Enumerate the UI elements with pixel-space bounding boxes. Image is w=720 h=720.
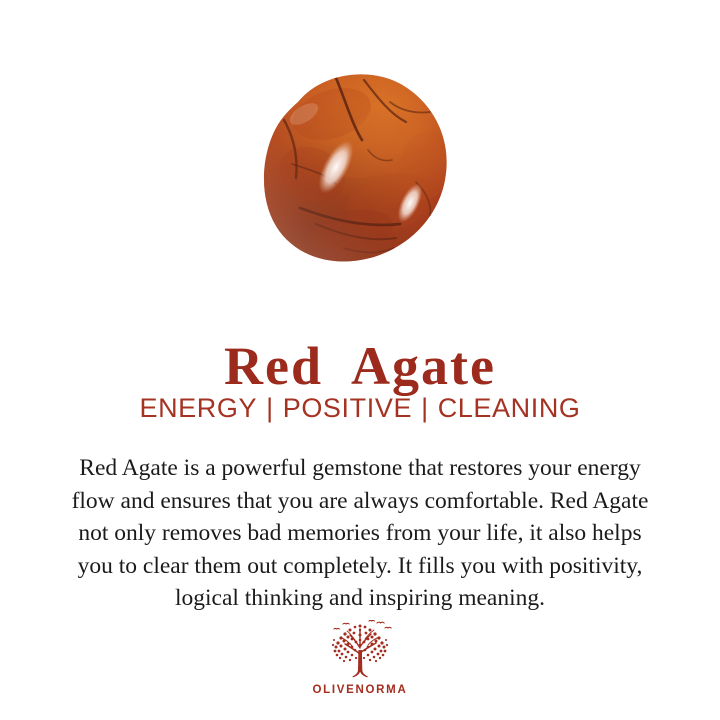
- keyword-separator: |: [412, 393, 438, 423]
- keyword-cleaning: CLEANING: [438, 393, 581, 423]
- keyword-positive: POSITIVE: [283, 393, 412, 423]
- description-text: Red Agate is a powerful gemstone that re…: [18, 452, 702, 615]
- description-line: you to clear them out completely. It fil…: [18, 550, 702, 583]
- description-line: logical thinking and inspiring meaning.: [18, 582, 702, 615]
- description-line: flow and ensures that you are always com…: [18, 485, 702, 518]
- bird-icon: [334, 620, 391, 629]
- description-line: not only removes bad memories from your …: [18, 517, 702, 550]
- keyword-energy: ENERGY: [139, 393, 257, 423]
- brand-wordmark: OLIVENORMA: [313, 685, 408, 697]
- keyword-separator: |: [257, 393, 283, 423]
- keyword-row: ENERGY|POSITIVE|CLEANING: [0, 393, 720, 424]
- stone-body: [240, 62, 480, 277]
- olive-tree-icon: [321, 620, 399, 684]
- description-line: Red Agate is a powerful gemstone that re…: [18, 452, 702, 485]
- red-agate-stone-illustration: [240, 62, 480, 277]
- gemstone-image: [0, 62, 720, 277]
- brand-logo: OLIVENORMA: [0, 620, 720, 697]
- product-info-card: Red Agate ENERGY|POSITIVE|CLEANING Red A…: [0, 0, 720, 720]
- page-title: Red Agate: [0, 338, 720, 395]
